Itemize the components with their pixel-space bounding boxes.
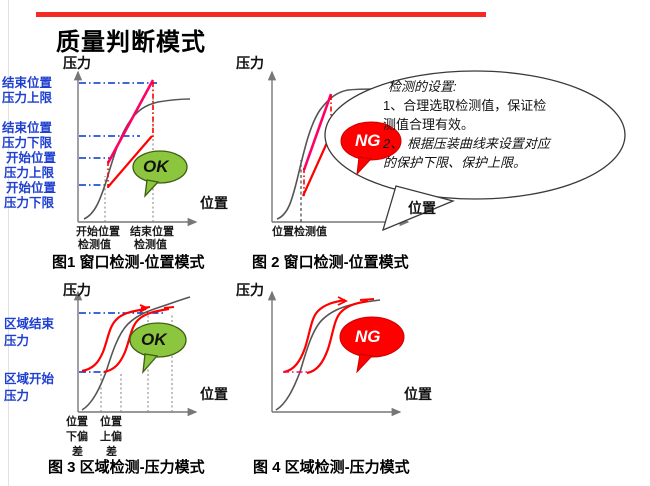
- chart3-xtick-1-line3: 差: [72, 446, 83, 459]
- chart1-limit-label-4b: 压力下限: [4, 196, 54, 211]
- chart3-limit-label-1a: 区域结束: [4, 317, 54, 332]
- chart2-lower-window-edge: [303, 136, 330, 196]
- chart3-xtick-2-line1: 位置: [100, 416, 122, 429]
- chart1-limit-label-1a: 结束位置: [2, 76, 52, 91]
- chart1-x-axis-label: 位置: [200, 197, 228, 210]
- callout-heading: 检测的设置:: [388, 77, 457, 96]
- chart1-limit-label-3b: 压力上限: [4, 166, 54, 181]
- chart2-y-axis-label: 压力: [236, 57, 264, 70]
- chart3-x-axis-label: 位置: [200, 388, 228, 401]
- chart1-xtick-2-line2: 检测值: [134, 239, 167, 252]
- callout-line-4: 的保护下限、保护上限。: [383, 153, 526, 172]
- chart1-xtick-2-line1: 结束位置: [130, 226, 174, 239]
- chart2-verdict-text: NG: [355, 131, 381, 151]
- chart1-limit-label-2a: 结束位置: [2, 121, 52, 136]
- chart3-limit-label-2a: 区域开始: [4, 372, 54, 387]
- chart2-caption: 图 2 窗口检测-位置模式: [252, 256, 409, 269]
- chart1-limit-label-2b: 压力下限: [2, 136, 52, 151]
- chart3-limit-label-2b: 压力: [4, 389, 29, 404]
- chart3-xtick-2-line3: 差: [106, 446, 117, 459]
- chart3-xtick-1-line1: 位置: [66, 416, 88, 429]
- chart1-caption: 图1 窗口检测-位置模式: [52, 256, 205, 269]
- chart2-xtick-1: 位置检测值: [272, 226, 327, 239]
- chart4-verdict-text: NG: [355, 327, 381, 347]
- chart1-y-axis-label: 压力: [63, 57, 91, 70]
- chart4-y-axis-label: 压力: [236, 284, 264, 297]
- chart1-xtick-1-line1: 开始位置: [76, 226, 120, 239]
- chart1-vertical-guides: [105, 83, 153, 222]
- chart4-caption: 图 4 区域检测-压力模式: [253, 461, 410, 474]
- chart2-x-axis-label: 位置: [408, 202, 436, 215]
- chart1-xtick-1-line2: 检测值: [78, 239, 111, 252]
- callout-line-2: 测值合理有效。: [383, 115, 474, 134]
- chart3-limit-label-1b: 压力: [4, 334, 29, 349]
- chart1-axes: [78, 72, 196, 222]
- chart3-xtick-1-line2: 下偏: [66, 431, 88, 444]
- callout-line-3: 2、 根据压装曲线来设置对应: [383, 134, 550, 153]
- chart3-caption: 图 3 区域检测-压力模式: [48, 461, 205, 474]
- chart1-limit-label-4a: 开始位置: [6, 181, 56, 196]
- chart3-verdict-text: OK: [141, 330, 167, 350]
- chart3-y-axis-label: 压力: [63, 284, 91, 297]
- slide-canvas: 质量判断模式: [0, 0, 650, 486]
- chart1-upper-window-edge: [108, 80, 153, 163]
- chart1-limit-label-1b: 压力上限: [2, 91, 52, 106]
- chart1-limit-label-3a: 开始位置: [6, 151, 56, 166]
- chart1-verdict-text: OK: [143, 157, 169, 177]
- callout-line-1: 1、合理选取检测值，保证检: [383, 96, 546, 115]
- chart4-x-axis-label: 位置: [404, 388, 432, 401]
- chart3-xtick-2-line2: 上偏: [100, 431, 122, 444]
